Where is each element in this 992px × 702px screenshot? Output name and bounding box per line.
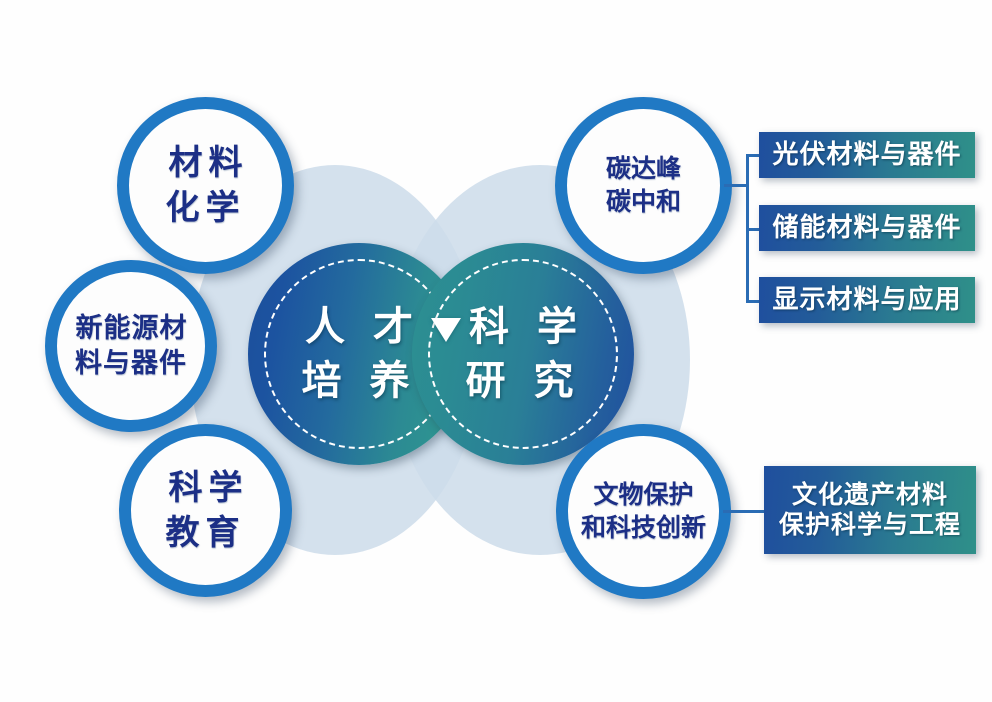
node-label-carbon-peak-neutrality: 碳达峰 碳中和 — [606, 153, 681, 218]
node-label-new-energy-materials: 新能源材 料与器件 — [75, 311, 188, 381]
node-cultural-relics-protection[interactable]: 文物保护 和科技创新 — [556, 424, 731, 599]
chip-cultural-heritage-materials[interactable]: 文化遗产材料 保护科学与工程 — [764, 466, 976, 554]
chip-label-energy-storage-materials: 储能材料与器件 — [772, 213, 961, 244]
node-label-science-education: 科学 教育 — [163, 466, 249, 554]
connector-carbon-stub — [724, 184, 748, 187]
chip-energy-storage-materials[interactable]: 储能材料与器件 — [759, 205, 975, 251]
chip-photovoltaic-materials[interactable]: 光伏材料与器件 — [759, 132, 975, 178]
connector-carbon-branch-1 — [746, 154, 760, 157]
core-label-scientific-research: 科 学 研 究 — [462, 300, 584, 407]
node-new-energy-materials[interactable]: 新能源材 料与器件 — [45, 260, 217, 432]
connector-carbon-branch-2 — [746, 228, 760, 231]
chip-label-cultural-heritage-materials: 文化遗产材料 保护科学与工程 — [779, 480, 961, 541]
node-label-material-chemistry: 材料 化学 — [163, 141, 249, 229]
down-arrow-icon — [431, 318, 461, 342]
core-label-talent-cultivation: 人 才 培 养 — [298, 300, 420, 407]
connector-heritage — [723, 510, 765, 513]
node-carbon-peak-neutrality[interactable]: 碳达峰 碳中和 — [555, 97, 732, 274]
node-material-chemistry[interactable]: 材料 化学 — [117, 97, 294, 274]
connector-carbon-branch-3 — [746, 300, 760, 303]
chip-label-photovoltaic-materials: 光伏材料与器件 — [772, 140, 961, 171]
node-label-cultural-relics-protection: 文物保护 和科技创新 — [581, 479, 706, 544]
chip-display-materials[interactable]: 显示材料与应用 — [759, 277, 975, 323]
chip-label-display-materials: 显示材料与应用 — [772, 285, 961, 316]
diagram-canvas: 人 才 培 养 科 学 研 究 材料 化学 新能源材 料与器件 科学 教育 碳达… — [0, 0, 992, 702]
node-science-education[interactable]: 科学 教育 — [119, 424, 292, 597]
core-circle-scientific-research[interactable]: 科 学 研 究 — [412, 243, 634, 465]
